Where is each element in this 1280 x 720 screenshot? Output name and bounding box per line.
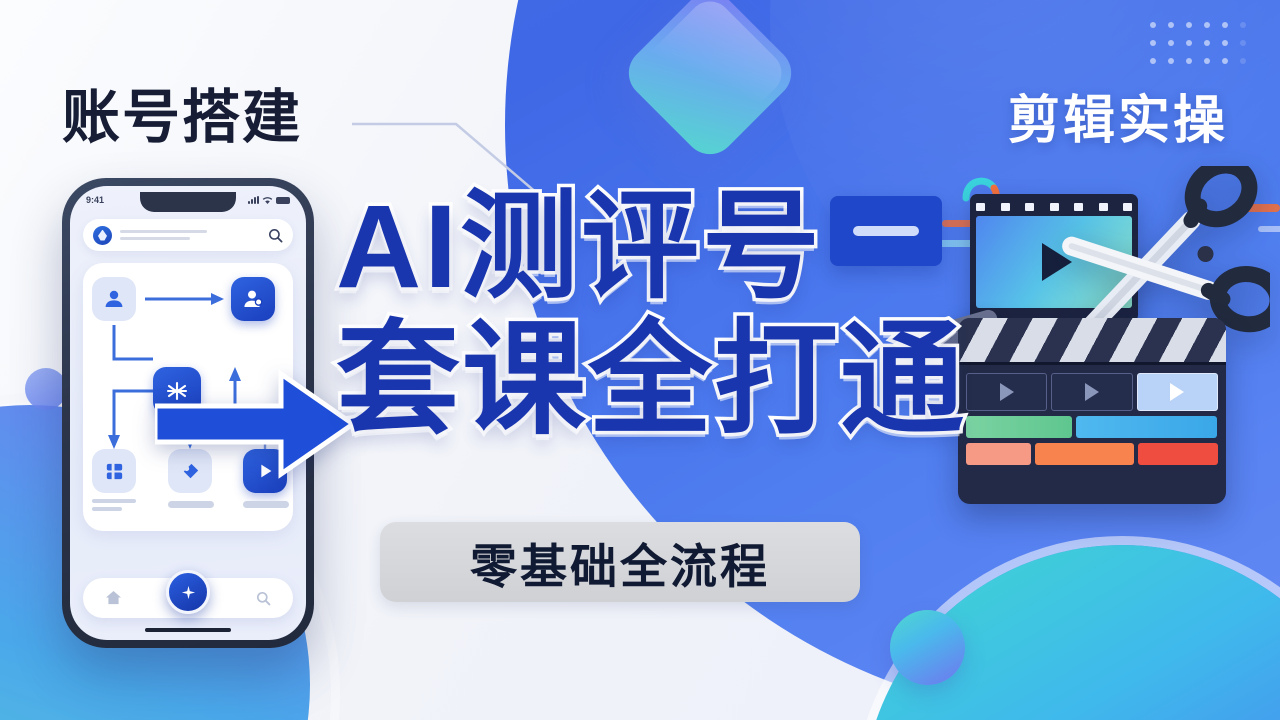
timeline-track-2[interactable] bbox=[966, 443, 1218, 465]
home-icon[interactable] bbox=[105, 590, 122, 606]
tag-account-building: 账号搭建 bbox=[62, 70, 302, 154]
search-input[interactable] bbox=[83, 219, 293, 251]
small-dot-icon bbox=[25, 368, 67, 410]
big-right-arrow-icon bbox=[155, 368, 355, 480]
search-placeholder-lines bbox=[120, 230, 260, 240]
flow-label-share-link bbox=[168, 501, 214, 508]
search-icon[interactable] bbox=[256, 591, 271, 606]
person-gear-icon bbox=[241, 287, 265, 311]
flow-label-video-play bbox=[243, 501, 289, 508]
dot-grid-decor bbox=[1150, 22, 1258, 76]
avatar bbox=[93, 226, 112, 245]
flow-node-user-source[interactable] bbox=[92, 277, 136, 321]
plus-sparkle-icon bbox=[180, 584, 197, 601]
status-time: 9:41 bbox=[86, 195, 104, 205]
search-icon[interactable] bbox=[268, 228, 283, 243]
battery-icon bbox=[276, 197, 290, 204]
flow-node-content-doc[interactable] bbox=[92, 449, 136, 493]
timeline-clip[interactable] bbox=[1035, 443, 1135, 465]
headline-line-1: AI测评号 bbox=[336, 188, 1096, 306]
phone-notch bbox=[140, 192, 236, 212]
play-icon bbox=[1170, 383, 1184, 401]
person-icon bbox=[102, 287, 126, 311]
subtitle-pill: 零基础全流程 bbox=[380, 522, 860, 602]
subtitle-text: 零基础全流程 bbox=[470, 528, 770, 597]
preview-cell-active[interactable] bbox=[1137, 373, 1218, 411]
create-fab-button[interactable] bbox=[166, 570, 210, 614]
headline-block: AI测评号 套课全打通 bbox=[336, 188, 1096, 442]
timeline-clip[interactable] bbox=[966, 443, 1031, 465]
gradient-sphere-icon bbox=[890, 610, 965, 685]
document-icon bbox=[103, 460, 126, 483]
flow-label-content-doc bbox=[92, 499, 136, 511]
timeline-clip[interactable] bbox=[1076, 416, 1217, 438]
tag-editing-practice: 剪辑实操 bbox=[1008, 78, 1228, 153]
headline-line-2: 套课全打通 bbox=[336, 318, 1096, 442]
signal-icon bbox=[248, 196, 259, 204]
wifi-icon bbox=[262, 196, 273, 205]
timeline-clip[interactable] bbox=[1138, 443, 1218, 465]
flow-node-user-target[interactable] bbox=[231, 277, 275, 321]
home-indicator bbox=[145, 628, 231, 632]
status-indicators bbox=[248, 196, 290, 205]
poster-canvas: 账号搭建 剪辑实操 9:41 bbox=[0, 0, 1280, 720]
